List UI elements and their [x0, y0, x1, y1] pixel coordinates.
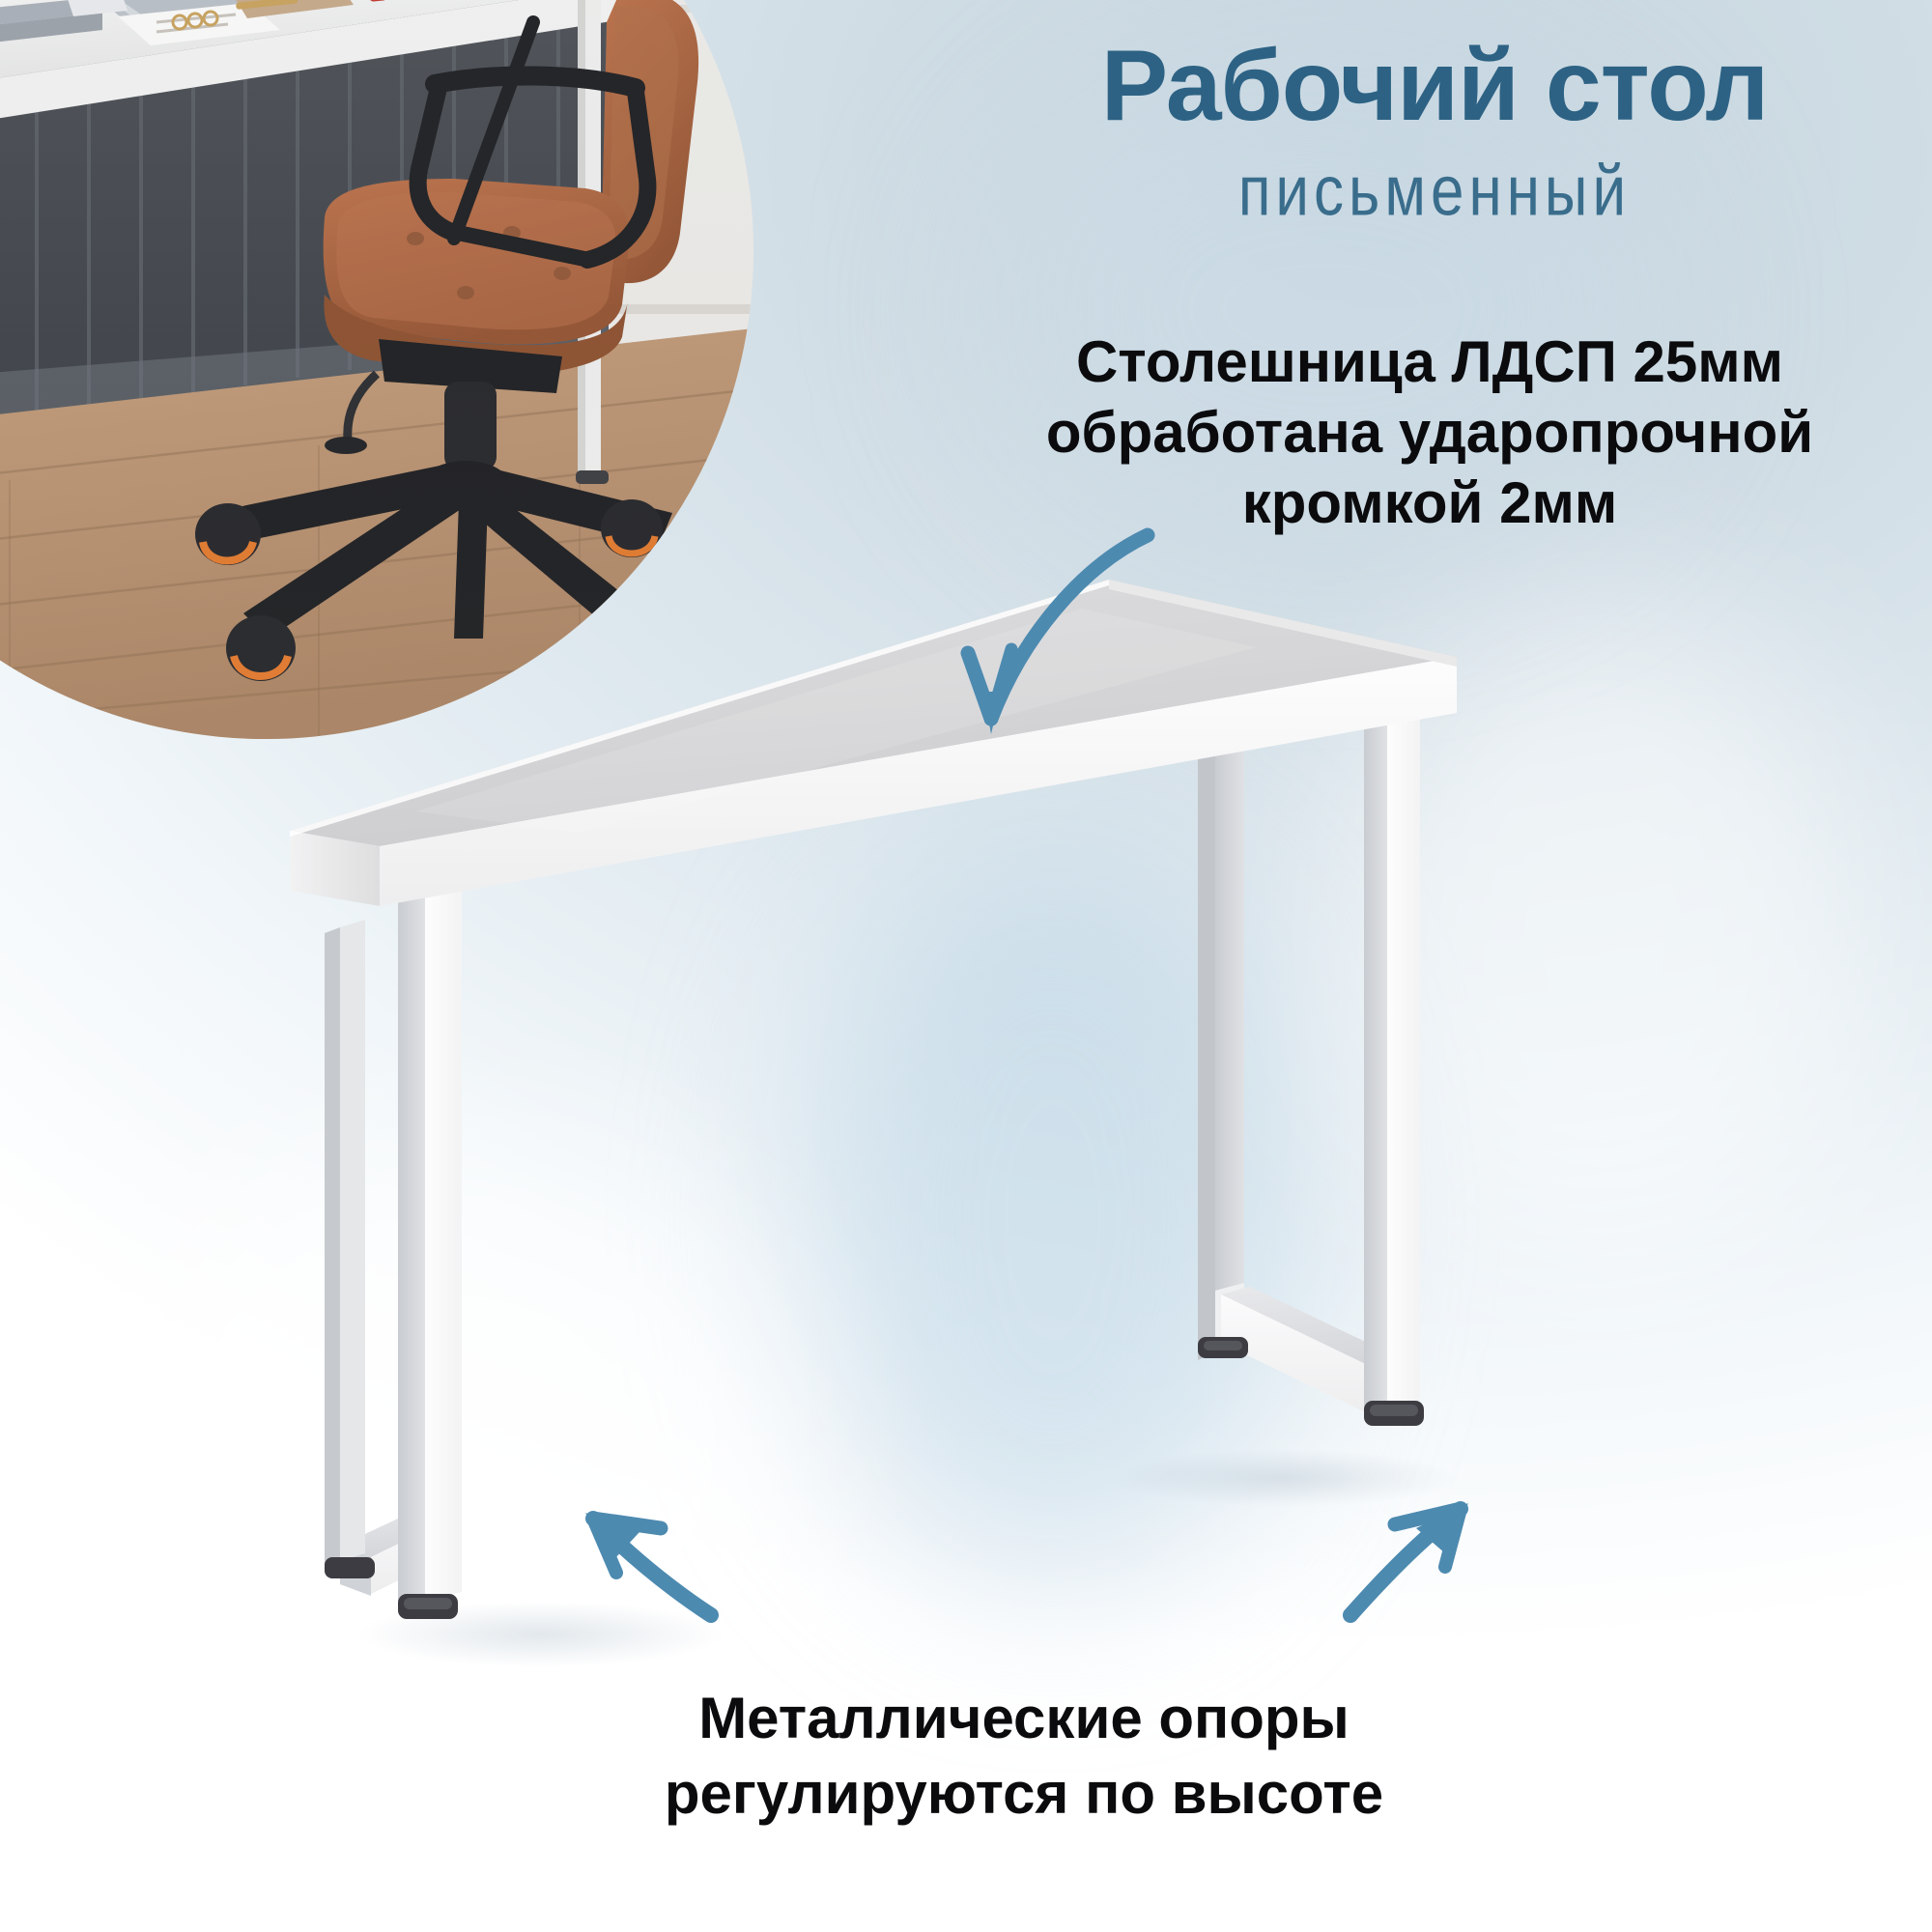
feature-tabletop-line-1: Столешница ЛДСП 25мм [966, 327, 1893, 397]
feature-legs-line-2: регулируются по высоте [502, 1756, 1546, 1832]
feature-tabletop-text: Столешница ЛДСП 25мм обработана ударопро… [966, 327, 1893, 539]
background-glow-left [116, 1140, 792, 1739]
curved-arrow-up-right-icon [1350, 1503, 1468, 1615]
curved-arrow-down-left-icon [968, 535, 1148, 734]
page-subtitle: письменный [985, 155, 1884, 229]
lifestyle-photo-inset [0, 0, 753, 739]
feature-tabletop-line-2: обработана ударопрочной [966, 397, 1893, 468]
inset-scene [0, 0, 753, 739]
desk-leg-left [325, 835, 462, 1619]
feature-tabletop-line-3: кромкой 2мм [966, 468, 1893, 538]
desk-leg-right [1198, 686, 1424, 1426]
product-banner: Рабочий стол письменный Столешница ЛДСП … [0, 0, 1932, 1932]
background-glow-right [1333, 599, 1874, 1275]
feature-legs-line-1: Металлические опоры [502, 1681, 1546, 1756]
feature-legs-text: Металлические опоры регулируются по высо… [502, 1681, 1546, 1832]
curved-arrow-up-left-icon [585, 1513, 711, 1615]
page-title: Рабочий стол [985, 35, 1884, 137]
background-glow-center [802, 850, 1304, 1584]
